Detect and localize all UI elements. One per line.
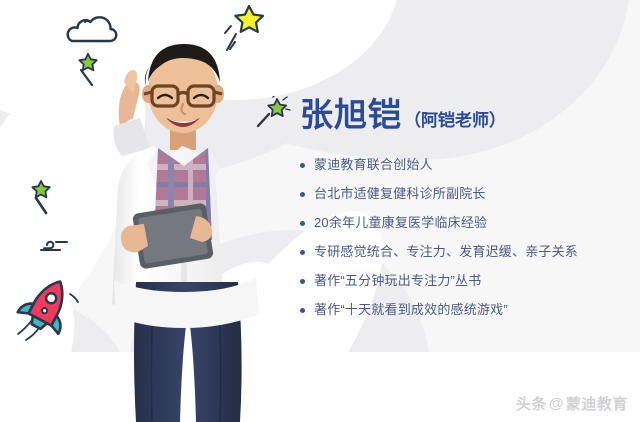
watermark-platform: 头条 <box>516 393 547 414</box>
watermark-at-symbol: @ <box>549 395 564 412</box>
page-title: 张旭铠 （阿铠老师） <box>300 88 630 136</box>
list-item: 蒙迪教育联合创始人 <box>300 156 630 185</box>
bullet-dot-icon <box>300 221 305 226</box>
wind-icon <box>38 238 70 261</box>
credential-text: 著作“五分钟玩出专注力”丛书 <box>314 272 481 290</box>
bullet-dot-icon <box>300 163 305 168</box>
list-item: 20余年儿童康复医学临床经验 <box>300 214 630 243</box>
credential-text: 著作“十天就看到成效的感统游戏” <box>314 301 508 319</box>
credential-text: 20余年儿童康复医学临床经验 <box>314 214 487 232</box>
bullet-dot-icon <box>300 308 305 313</box>
star-wand-icon <box>26 178 60 221</box>
credential-text: 专研感觉统合、专注力、发育迟缓、亲子关系 <box>314 243 578 261</box>
bullet-dot-icon <box>300 279 305 284</box>
credential-list: 蒙迪教育联合创始人 台北市适健复健科诊所副院长 20余年儿童康复医学临床经验 专… <box>300 156 630 330</box>
rocket-icon <box>10 272 82 349</box>
presenter-name: 张旭铠 <box>300 88 402 136</box>
bullet-dot-icon <box>300 250 305 255</box>
presenter-info: 张旭铠 （阿铠老师） 蒙迪教育联合创始人 台北市适健复健科诊所副院长 20余年儿… <box>300 88 630 330</box>
watermark-account: 蒙迪教育 <box>566 393 628 414</box>
watermark: 头条 @ 蒙迪教育 <box>516 393 628 414</box>
credential-text: 台北市适健复健科诊所副院长 <box>314 185 486 203</box>
bullet-dot-icon <box>300 192 305 197</box>
list-item: 著作“十天就看到成效的感统游戏” <box>300 301 630 330</box>
credential-text: 蒙迪教育联合创始人 <box>314 156 433 174</box>
list-item: 著作“五分钟玩出专注力”丛书 <box>300 272 630 301</box>
presenter-alias: （阿铠老师） <box>404 106 506 131</box>
list-item: 台北市适健复健科诊所副院长 <box>300 185 630 214</box>
presenter-photo <box>84 30 294 422</box>
promo-banner: 张旭铠 （阿铠老师） 蒙迪教育联合创始人 台北市适健复健科诊所副院长 20余年儿… <box>0 0 640 422</box>
list-item: 专研感觉统合、专注力、发育迟缓、亲子关系 <box>300 243 630 272</box>
